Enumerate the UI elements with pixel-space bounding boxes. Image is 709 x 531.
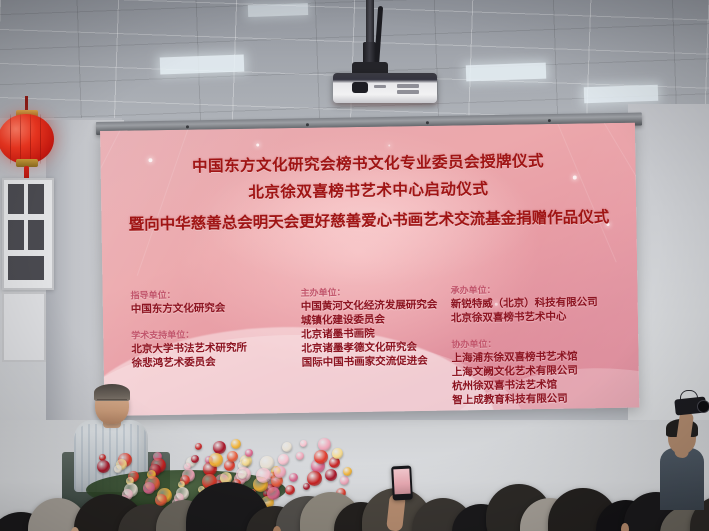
- projector-vent: [374, 85, 386, 88]
- credits-block: 承办单位： 新锐特威（北京）科技有限公司 北京徐双喜榜书艺术中心: [450, 281, 636, 326]
- projector-lens: [352, 82, 368, 93]
- credits-block: 协办单位： 上海浦东徐双喜榜书艺术馆 上海文阙文化艺术有限公司 杭州徐双喜书法艺…: [451, 335, 637, 408]
- slide-sparkle-icon: [256, 144, 259, 147]
- credits-column-middle: 主办单位： 中国黄河文化经济发展研究会 城镇化建设委员会 北京诸墨书画院 北京诸…: [300, 283, 471, 382]
- ceiling-light-panel: [160, 55, 245, 75]
- ceiling-projector: [333, 73, 437, 103]
- red-lantern-icon: [0, 114, 54, 164]
- credits-item: 北京徐双喜榜书艺术中心: [451, 309, 636, 326]
- credits-block: 学术支持单位： 北京大学书法艺术研究所 徐悲鸿艺术委员会: [131, 326, 282, 370]
- slide-sparkle-icon: [388, 144, 390, 146]
- credits-block: 主办单位： 中国黄河文化经济发展研究会 城镇化建设委员会 北京诸墨书画院 北京诸…: [300, 283, 471, 370]
- wall-photo-frame: [2, 178, 54, 290]
- credits-column-left: 指导单位： 中国东方文化研究会 学术支持单位： 北京大学书法艺术研究所 徐悲鸿艺…: [130, 286, 281, 382]
- conference-hall-photo: 中国东方文化研究会榜书文化专业委员会授牌仪式 北京徐双喜榜书艺术中心启动仪式 暨…: [0, 0, 709, 531]
- projector-vent: [397, 90, 419, 94]
- credits-item: 国际中国书画家交流促进会: [302, 353, 472, 370]
- audience-member-ear: [621, 523, 629, 531]
- audience-crowd: [0, 440, 709, 531]
- projector-vent: [397, 84, 419, 88]
- credits-item: 徐悲鸿艺术委员会: [132, 354, 282, 370]
- slide-credits-columns: 指导单位： 中国东方文化研究会 学术支持单位： 北京大学书法艺术研究所 徐悲鸿艺…: [102, 281, 639, 409]
- camera-lens-icon: [697, 400, 709, 413]
- credits-item: 中国东方文化研究会: [131, 300, 281, 316]
- ceiling-light-panel: [248, 3, 308, 17]
- credits-column-right: 承办单位： 新锐特威（北京）科技有限公司 北京徐双喜榜书艺术中心 协办单位： 上…: [450, 281, 637, 416]
- credits-item: 智上成教育科技有限公司: [452, 391, 637, 408]
- smartphone-screen: [393, 469, 410, 495]
- ceiling-light-panel: [466, 63, 547, 82]
- ceiling-light-panel: [584, 85, 659, 104]
- credits-block: 指导单位： 中国东方文化研究会: [130, 286, 280, 316]
- wall-photo-frame-lower: [2, 292, 46, 362]
- speaker-glasses: [97, 399, 127, 406]
- slide-title-block: 中国东方文化研究会榜书文化专业委员会授牌仪式 北京徐双喜榜书艺术中心启动仪式 暨…: [100, 149, 636, 241]
- projection-screen: 中国东方文化研究会榜书文化专业委员会授牌仪式 北京徐双喜榜书艺术中心启动仪式 暨…: [100, 123, 639, 416]
